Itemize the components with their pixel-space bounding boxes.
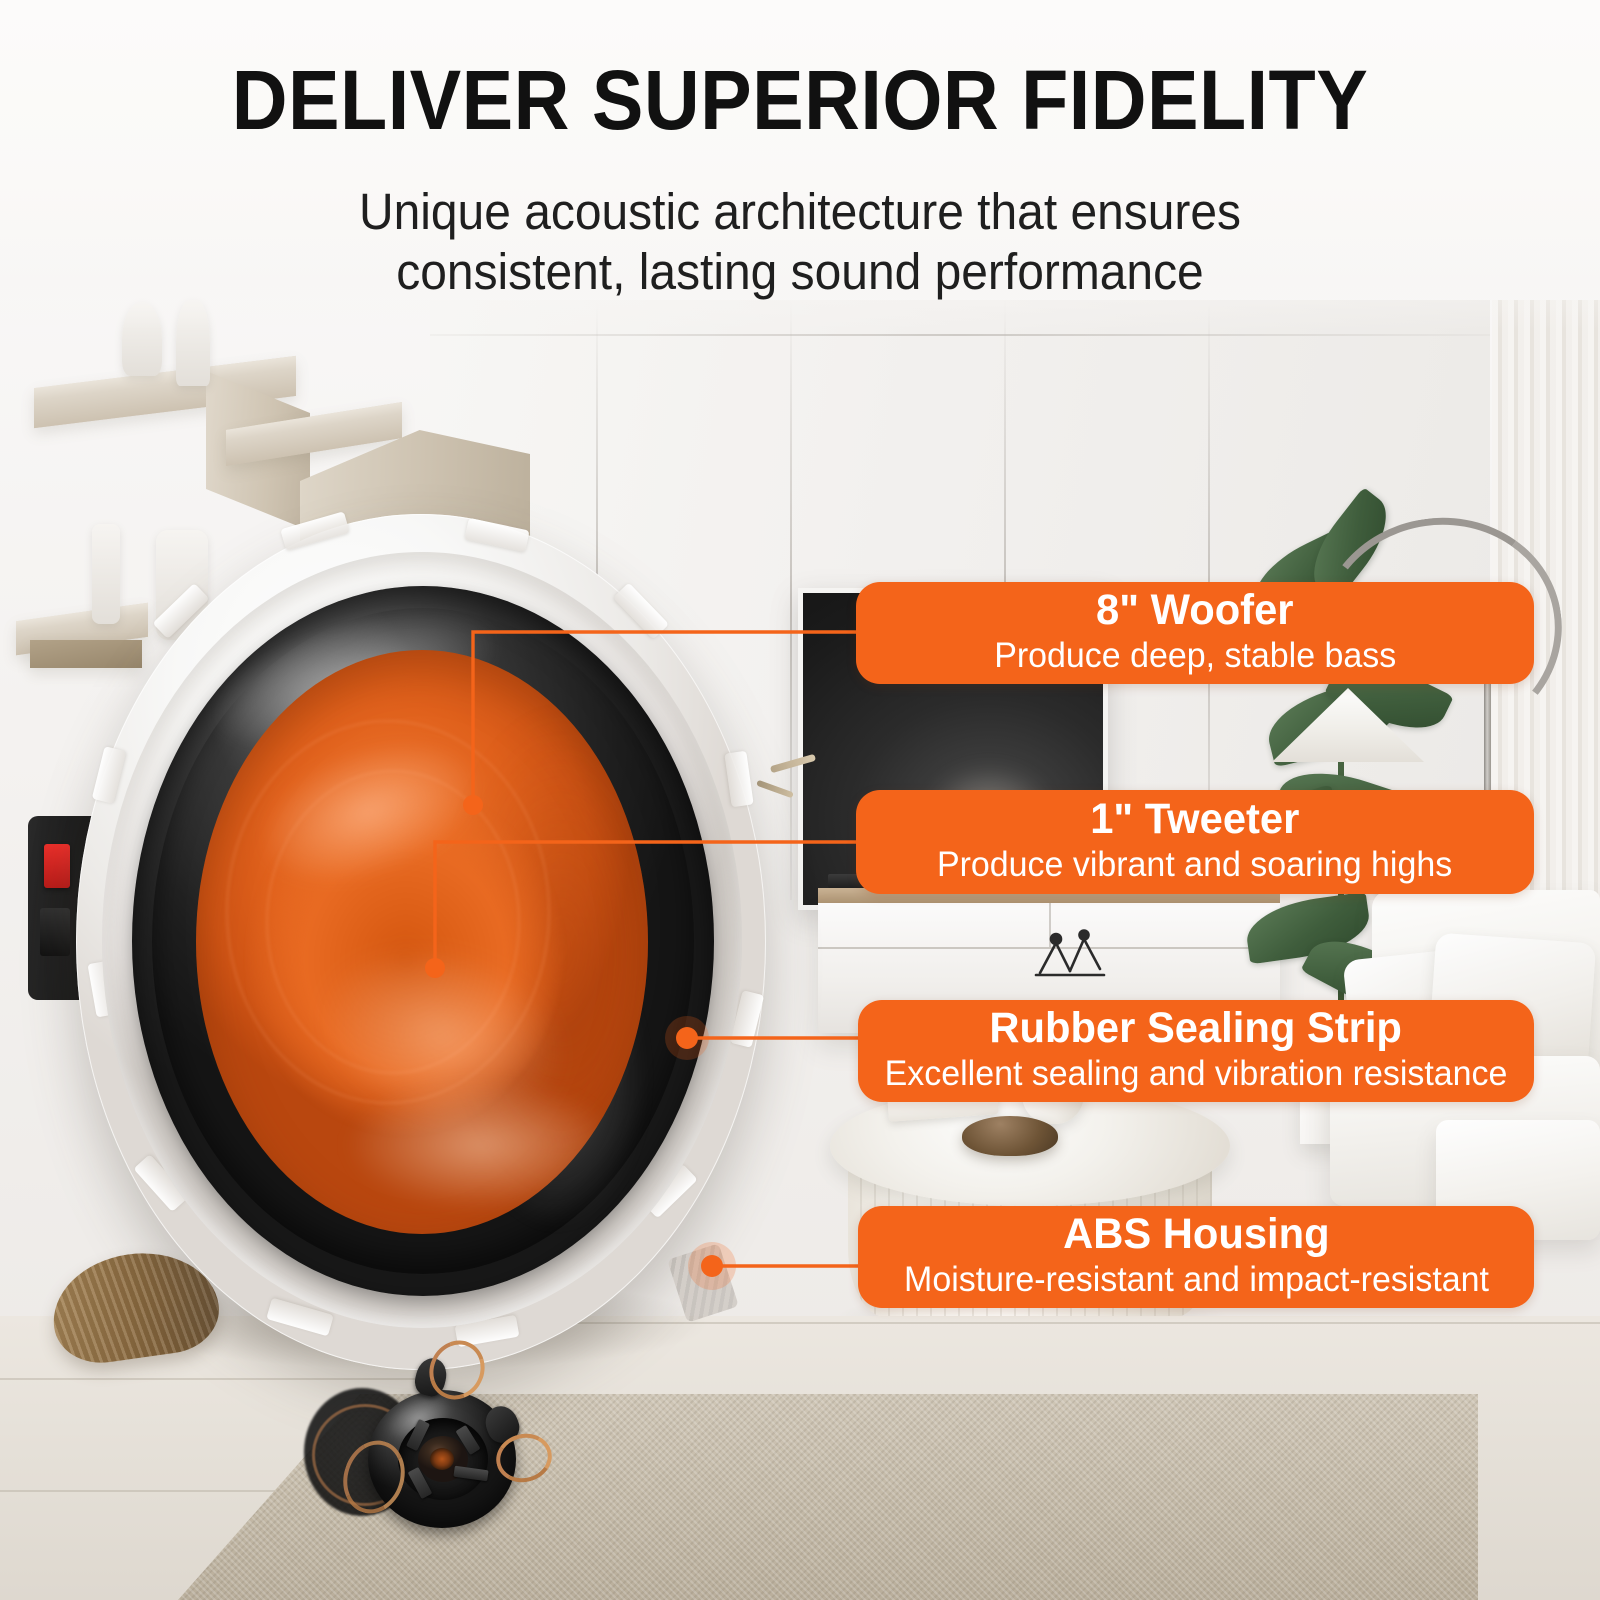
page-subtitle: Unique acoustic architecture that ensure… [236, 182, 1364, 301]
terminal-positive [44, 844, 70, 888]
callout-title: 1" Tweeter [1090, 797, 1299, 843]
terminal-negative [40, 908, 70, 956]
tweeter-center-cap [430, 1448, 454, 1470]
callout-title: ABS Housing [1063, 1212, 1329, 1258]
console-figurine [1030, 925, 1110, 985]
callout-subtitle: Produce vibrant and soaring highs [937, 846, 1452, 885]
callout-subtitle: Moisture-resistant and impact-resistant [904, 1261, 1489, 1300]
callout-abs-housing[interactable]: ABS Housing Moisture-resistant and impac… [858, 1206, 1534, 1308]
speaker-product-image [36, 508, 796, 1376]
callout-title: Rubber Sealing Strip [990, 1006, 1403, 1052]
callout-woofer[interactable]: 8" Woofer Produce deep, stable bass [856, 582, 1534, 684]
callout-rubber-sealing-strip[interactable]: Rubber Sealing Strip Excellent sealing a… [858, 1000, 1534, 1102]
table-wooden-bowl [962, 1116, 1058, 1156]
orange-cone [196, 650, 648, 1234]
callout-title: 8" Woofer [1096, 588, 1293, 634]
tweeter-dome [358, 1384, 534, 1534]
callout-tweeter[interactable]: 1" Tweeter Produce vibrant and soaring h… [856, 790, 1534, 894]
callout-subtitle: Produce deep, stable bass [994, 637, 1396, 676]
page-subtitle-line-1: Unique acoustic architecture that ensure… [236, 182, 1364, 242]
page-title: DELIVER SUPERIOR FIDELITY [64, 58, 1536, 142]
page-subtitle-line-2: consistent, lasting sound performance [236, 242, 1364, 302]
callout-subtitle: Excellent sealing and vibration resistan… [885, 1055, 1508, 1094]
product-feature-infographic: DELIVER SUPERIOR FIDELITY Unique acousti… [0, 0, 1600, 1600]
